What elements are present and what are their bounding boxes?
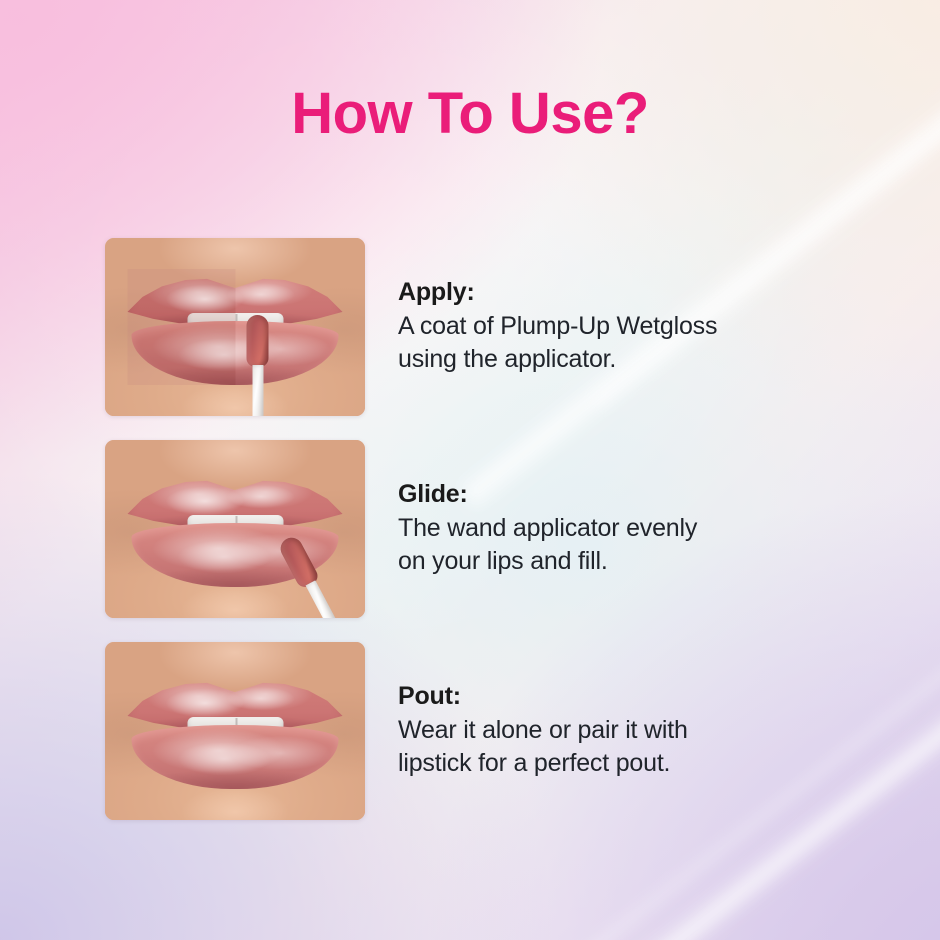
step-item-pout: Pout: Wear it alone or pair it with lips…	[105, 642, 845, 820]
step-image-apply	[105, 238, 365, 416]
step-title: Apply:	[398, 278, 845, 308]
step-text-glide: Glide: The wand applicator evenly on you…	[398, 480, 845, 579]
step-body-line: on your lips and fill.	[398, 545, 845, 578]
wand-tip	[247, 315, 269, 367]
steps-list: Apply: A coat of Plump-Up Wetgloss using…	[105, 238, 845, 820]
step-text-apply: Apply: A coat of Plump-Up Wetgloss using…	[398, 278, 845, 377]
how-to-use-poster: How To Use? Apply	[0, 0, 940, 940]
step-image-pout	[105, 642, 365, 820]
page-title: How To Use?	[0, 80, 940, 147]
lips-illustration	[128, 269, 343, 385]
step-item-apply: Apply: A coat of Plump-Up Wetgloss using…	[105, 238, 845, 416]
step-body-line: The wand applicator evenly	[398, 512, 845, 545]
step-item-glide: Glide: The wand applicator evenly on you…	[105, 440, 845, 618]
step-image-glide	[105, 440, 365, 618]
step-body-line: A coat of Plump-Up Wetgloss	[398, 310, 845, 343]
lips-illustration	[128, 673, 343, 789]
step-body-line: lipstick for a perfect pout.	[398, 747, 845, 780]
lower-lip	[132, 725, 339, 789]
wand-stick	[252, 365, 263, 416]
step-text-pout: Pout: Wear it alone or pair it with lips…	[398, 682, 845, 781]
lips-illustration	[128, 471, 343, 587]
matte-lip-half	[128, 269, 236, 385]
applicator-wand-icon	[247, 315, 269, 416]
step-title: Pout:	[398, 682, 845, 712]
step-title: Glide:	[398, 480, 845, 510]
step-body-line: Wear it alone or pair it with	[398, 714, 845, 747]
step-body-line: using the applicator.	[398, 343, 845, 376]
